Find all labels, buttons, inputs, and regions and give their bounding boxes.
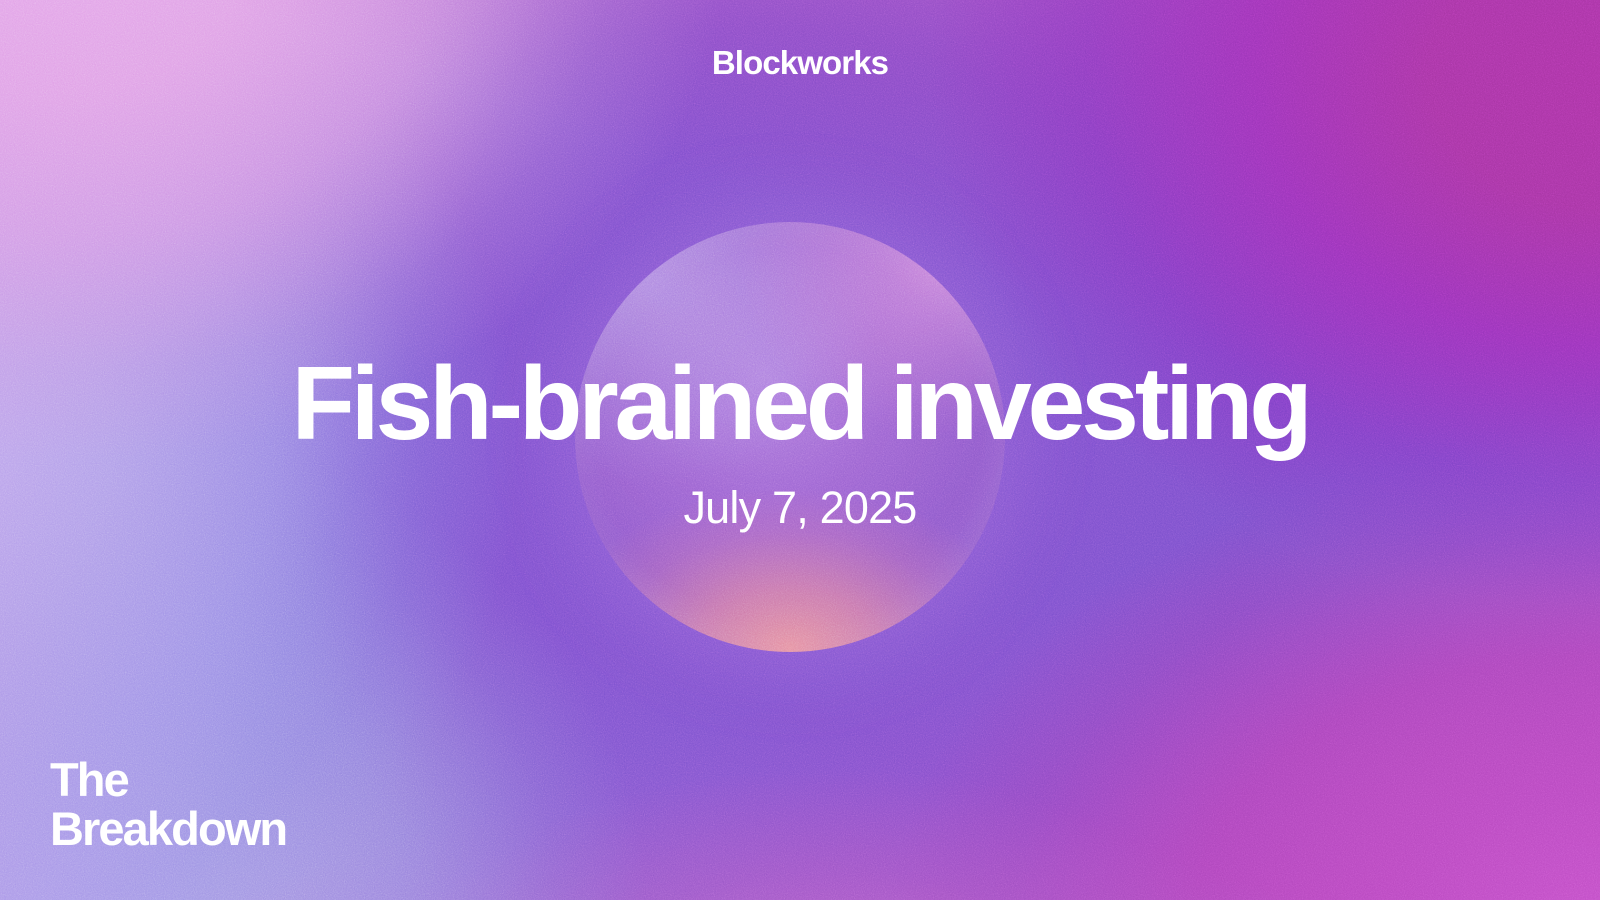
cover-canvas: Blockworks Fish-brained investing July 7…	[0, 0, 1600, 900]
show-logo-the-breakdown: The Breakdown	[50, 756, 286, 854]
blockworks-wordmark: Blockworks	[0, 44, 1600, 82]
show-logo-line-2: Breakdown	[50, 805, 286, 854]
episode-date: July 7, 2025	[0, 482, 1600, 534]
episode-title: Fish-brained investing	[0, 352, 1600, 456]
show-logo-line-1: The	[50, 756, 286, 805]
text-layer: Blockworks Fish-brained investing July 7…	[0, 0, 1600, 900]
